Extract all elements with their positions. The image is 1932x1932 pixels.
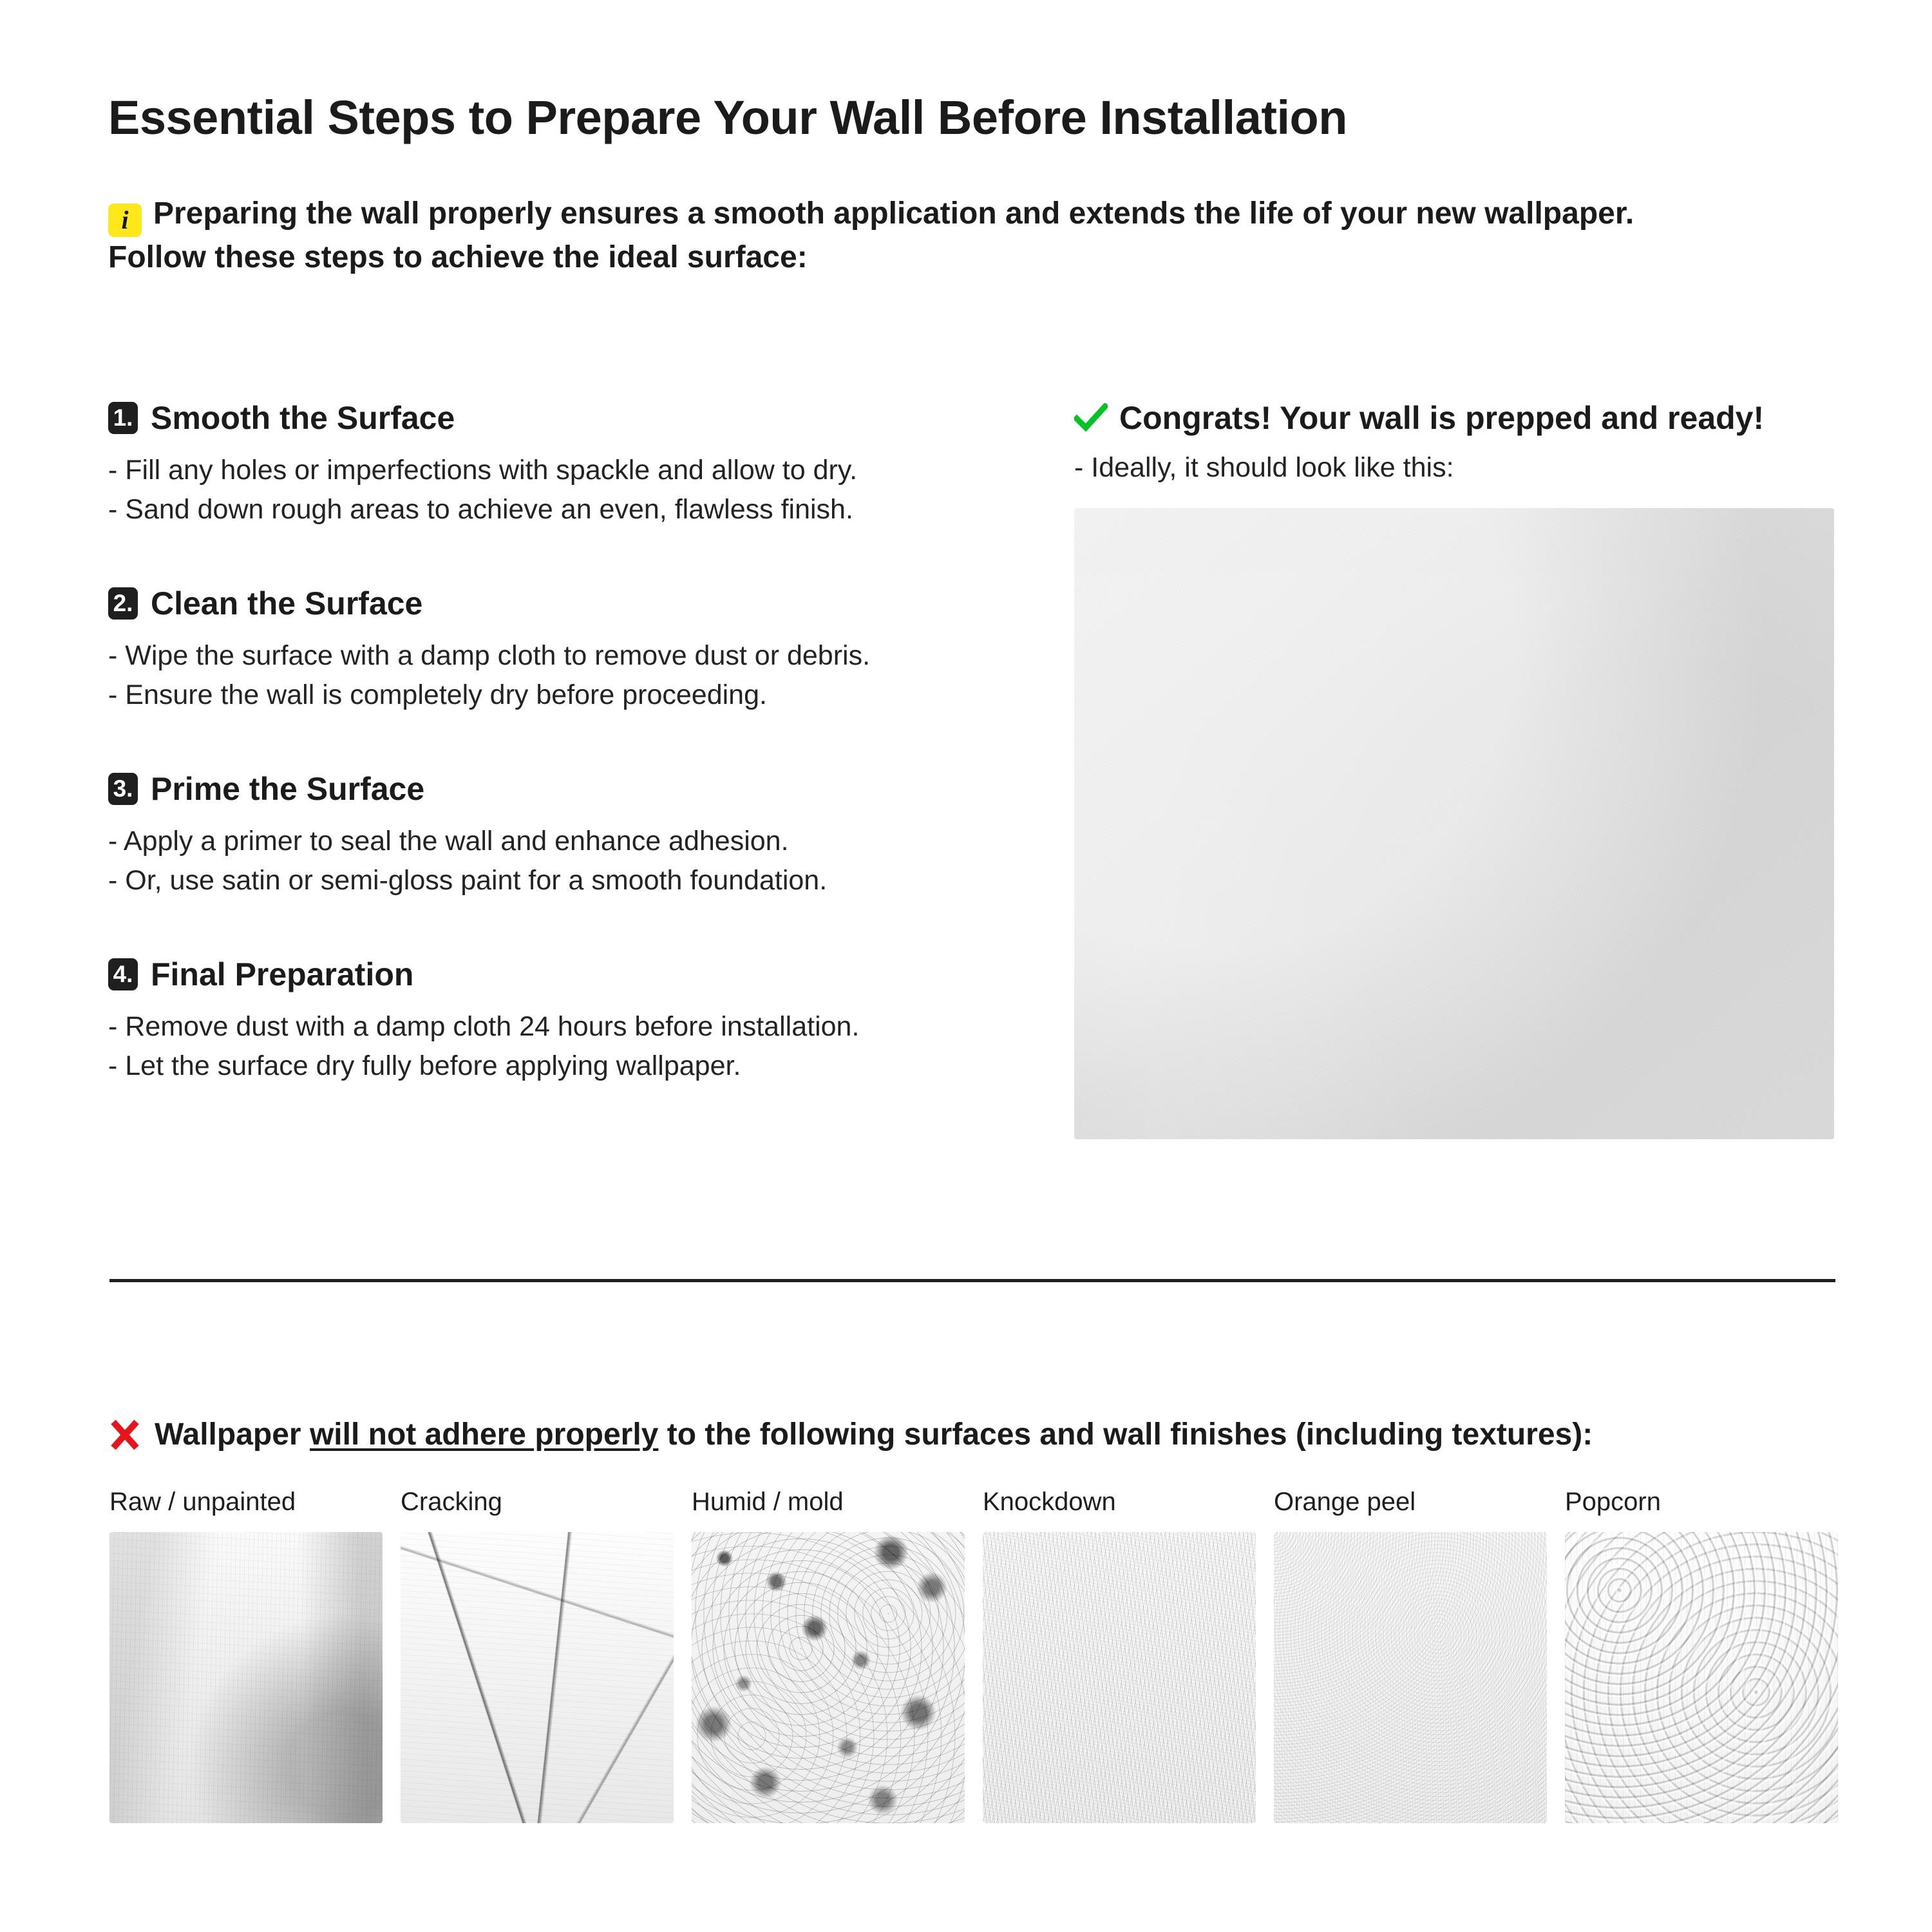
step-line: - Remove dust with a damp cloth 24 hours… (108, 1007, 1029, 1046)
congrats-title: Congrats! Your wall is prepped and ready… (1119, 399, 1764, 437)
thumbnail-item: Raw / unpainted (109, 1488, 383, 1823)
thumbnail-image-humid-mold (692, 1532, 965, 1823)
step-item: 1. Smooth the Surface - Fill any holes o… (108, 399, 1029, 529)
step-line: - Fill any holes or imperfections with s… (108, 451, 1029, 490)
thumbnail-label: Raw / unpainted (109, 1488, 383, 1517)
step-number-badge: 1. (108, 402, 138, 434)
page-root: Essential Steps to Prepare Your Wall Bef… (0, 0, 1932, 1932)
thumbnail-label: Humid / mold (692, 1488, 965, 1517)
check-icon (1074, 403, 1108, 431)
warning-text: Wallpaper will not adhere properly to th… (155, 1417, 1593, 1452)
section-divider (109, 1279, 1835, 1282)
thumbnail-image-orange-peel (1274, 1532, 1547, 1823)
step-title: Prime the Surface (151, 770, 424, 808)
x-icon (108, 1418, 142, 1452)
step-line: - Apply a primer to seal the wall and en… (108, 822, 1029, 861)
step-header: 3. Prime the Surface (108, 770, 1029, 808)
step-title: Final Preparation (151, 956, 413, 993)
warning-prefix: Wallpaper (155, 1417, 310, 1452)
congrats-header: Congrats! Your wall is prepped and ready… (1074, 399, 1834, 437)
step-title: Clean the Surface (151, 585, 422, 622)
thumbnail-item: Humid / mold (692, 1488, 965, 1823)
warning-emphasis: will not adhere properly (310, 1417, 658, 1452)
step-title: Smooth the Surface (151, 399, 455, 437)
thumbnail-image-cracking (401, 1532, 674, 1823)
step-item: 2. Clean the Surface - Wipe the surface … (108, 585, 1029, 715)
steps-list: 1. Smooth the Surface - Fill any holes o… (108, 399, 1029, 1086)
step-line: - Ensure the wall is completely dry befo… (108, 676, 1029, 715)
step-header: 1. Smooth the Surface (108, 399, 1029, 437)
step-item: 4. Final Preparation - Remove dust with … (108, 956, 1029, 1086)
thumbnail-item: Orange peel (1274, 1488, 1547, 1823)
bad-surface-thumbnails: Raw / unpainted Cracking Humid / mold Kn… (109, 1488, 1842, 1823)
step-number-badge: 3. (108, 773, 138, 805)
thumbnail-item: Popcorn (1565, 1488, 1838, 1823)
step-line: - Let the surface dry fully before apply… (108, 1046, 1029, 1086)
thumbnail-label: Popcorn (1565, 1488, 1838, 1517)
warning-suffix: to the following surfaces and wall finis… (658, 1417, 1593, 1452)
thumbnail-image-popcorn (1565, 1532, 1838, 1823)
thumbnail-image-knockdown (983, 1532, 1256, 1823)
intro-block: iPreparing the wall properly ensures a s… (108, 193, 1847, 278)
warning-header: Wallpaper will not adhere properly to th… (108, 1417, 1593, 1452)
congrats-subtitle: - Ideally, it should look like this: (1074, 452, 1834, 484)
thumbnail-label: Cracking (401, 1488, 674, 1517)
step-line: - Sand down rough areas to achieve an ev… (108, 490, 1029, 529)
thumbnail-label: Knockdown (983, 1488, 1256, 1517)
step-item: 3. Prime the Surface - Apply a primer to… (108, 770, 1029, 900)
step-header: 4. Final Preparation (108, 956, 1029, 993)
step-line: - Or, use satin or semi-gloss paint for … (108, 861, 1029, 900)
ideal-wall-sample-image (1074, 508, 1834, 1139)
congrats-column: Congrats! Your wall is prepped and ready… (1074, 399, 1834, 1139)
intro-line-2: Follow these steps to achieve the ideal … (108, 240, 808, 274)
thumbnail-label: Orange peel (1274, 1488, 1547, 1517)
step-number-badge: 4. (108, 958, 138, 990)
page-title: Essential Steps to Prepare Your Wall Bef… (108, 90, 1347, 145)
thumbnail-item: Knockdown (983, 1488, 1256, 1823)
thumbnail-item: Cracking (401, 1488, 674, 1823)
step-line: - Wipe the surface with a damp cloth to … (108, 636, 1029, 676)
info-icon: i (108, 204, 142, 237)
intro-line-1: Preparing the wall properly ensures a sm… (153, 196, 1634, 231)
step-number-badge: 2. (108, 587, 138, 620)
step-header: 2. Clean the Surface (108, 585, 1029, 622)
thumbnail-image-raw-unpainted (109, 1532, 383, 1823)
